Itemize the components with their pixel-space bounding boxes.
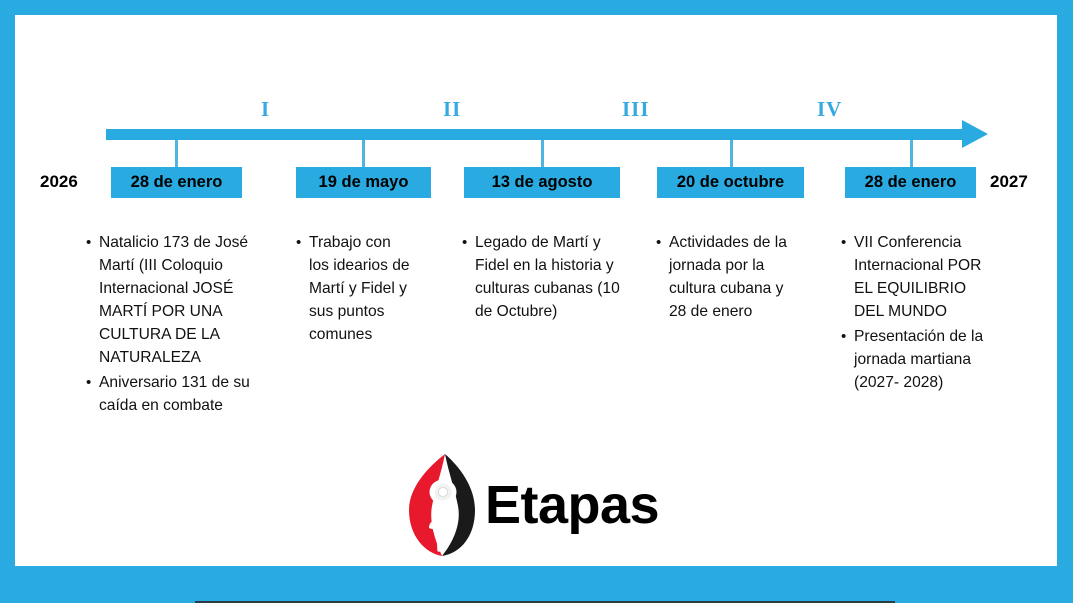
list-item: Aniversario 131 de su caída en combate	[99, 371, 275, 417]
tick-connector-2	[362, 140, 365, 167]
timeline-start-year: 2026	[40, 172, 78, 192]
milestone-date-chip-2[interactable]: 19 de mayo	[296, 167, 431, 198]
milestone-bullet-list-4: Actividades de la jornada por la cultura…	[655, 231, 800, 323]
milestone-column-5: VII Conferencia Internacional POR EL EQU…	[840, 231, 988, 396]
slide-canvas: I II III IV 2026 2027 28 de enero 19 de …	[0, 0, 1073, 603]
phase-numeral-3: III	[622, 97, 650, 122]
milestone-bullet-list-3: Legado de Martí y Fidel en la historia y…	[461, 231, 621, 323]
list-item: Presentación de la jornada martiana (202…	[854, 325, 988, 394]
tick-connector-3	[541, 140, 544, 167]
milestone-column-2: Trabajo con los idearios de Martí y Fide…	[295, 231, 415, 348]
milestone-date-chip-1[interactable]: 28 de enero	[111, 167, 242, 198]
phase-numeral-1: I	[261, 97, 270, 122]
milestone-date-chip-4[interactable]: 20 de octubre	[657, 167, 804, 198]
tick-connector-1	[175, 140, 178, 167]
milestone-date-chip-3[interactable]: 13 de agosto	[464, 167, 620, 198]
milestone-column-1: Natalicio 173 de José Martí (III Coloqui…	[85, 231, 275, 419]
milestone-column-4: Actividades de la jornada por la cultura…	[655, 231, 800, 325]
phase-numeral-4: IV	[817, 97, 842, 122]
timeline-axis-bar	[106, 129, 966, 140]
frame-right-border	[1057, 0, 1073, 603]
list-item: Natalicio 173 de José Martí (III Coloqui…	[99, 231, 275, 369]
frame-left-border	[0, 0, 15, 603]
milestone-bullet-list-2: Trabajo con los idearios de Martí y Fide…	[295, 231, 415, 346]
flame-rose-logo	[405, 452, 479, 558]
list-item: Trabajo con los idearios de Martí y Fide…	[309, 231, 415, 346]
frame-top-border	[0, 0, 1073, 15]
phase-numeral-2: II	[443, 97, 461, 122]
milestone-bullet-list-5: VII Conferencia Internacional POR EL EQU…	[840, 231, 988, 394]
milestone-bullet-list-1: Natalicio 173 de José Martí (III Coloqui…	[85, 231, 275, 417]
footer-title: Etapas	[485, 474, 659, 536]
milestone-date-chip-5[interactable]: 28 de enero	[845, 167, 976, 198]
list-item: Actividades de la jornada por la cultura…	[669, 231, 800, 323]
tick-connector-5	[910, 140, 913, 167]
frame-bottom-border	[0, 566, 1073, 603]
list-item: Legado de Martí y Fidel en la historia y…	[475, 231, 621, 323]
tick-connector-4	[730, 140, 733, 167]
timeline-end-year: 2027	[990, 172, 1028, 192]
list-item: VII Conferencia Internacional POR EL EQU…	[854, 231, 988, 323]
footer-brand-group: Etapas	[405, 452, 659, 558]
milestone-column-3: Legado de Martí y Fidel en la historia y…	[461, 231, 621, 325]
timeline-arrow-head	[962, 120, 988, 148]
